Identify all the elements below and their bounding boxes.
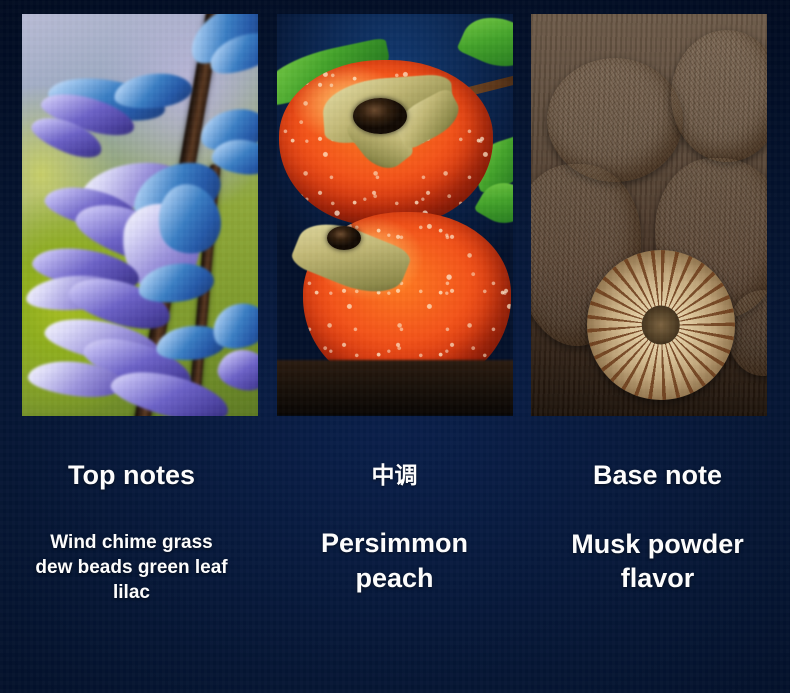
base-notes-subtitle: Musk powder flavor bbox=[526, 527, 789, 596]
top-notes-caption: Top notes Wind chime grass dew beads gre… bbox=[0, 440, 263, 605]
base-notes-caption: Base note Musk powder flavor bbox=[526, 440, 789, 605]
middle-notes-title: 中调 bbox=[263, 440, 526, 488]
persimmon-stem-pit-bottom bbox=[327, 226, 361, 250]
middle-notes-caption: 中调 Persimmon peach bbox=[263, 440, 526, 605]
base-notes-title: Base note bbox=[526, 440, 789, 491]
top-notes-title: Top notes bbox=[0, 440, 263, 491]
persimmon-stem-pit bbox=[353, 98, 407, 134]
middle-notes-subtitle: Persimmon peach bbox=[263, 526, 526, 595]
note-images-row bbox=[22, 14, 767, 416]
top-notes-subtitle: Wind chime grass dew beads green leaf li… bbox=[0, 530, 263, 605]
top-notes-image-panel[interactable] bbox=[22, 14, 258, 416]
nutmeg-nut-cut-open bbox=[587, 250, 735, 400]
note-captions-row: Top notes Wind chime grass dew beads gre… bbox=[0, 440, 790, 605]
base-notes-image-panel[interactable] bbox=[531, 14, 767, 416]
hyacinth-flower-cluster bbox=[22, 14, 258, 416]
middle-notes-image-panel[interactable] bbox=[277, 14, 513, 416]
fragrance-notes-page: Top notes Wind chime grass dew beads gre… bbox=[0, 0, 790, 693]
wooden-surface bbox=[277, 360, 513, 416]
